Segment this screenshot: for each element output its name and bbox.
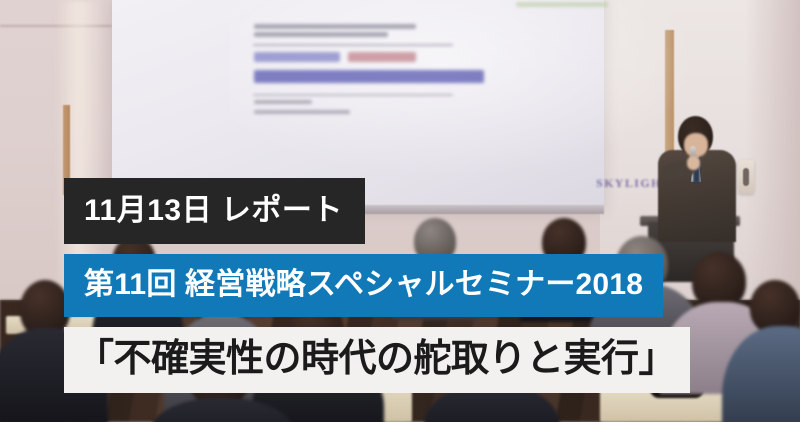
slide-footer-line-2 bbox=[254, 110, 350, 114]
slide-session-accent bbox=[348, 52, 416, 62]
slide-corner-tag bbox=[516, 2, 608, 7]
overlay-banners: 11月13日 レポート 第11回 経営戦略スペシャルセミナー2018 「不確実性… bbox=[64, 178, 754, 393]
slide-rule-bottom bbox=[253, 94, 453, 96]
projection-screen: SKYLIGHT bbox=[112, 0, 604, 208]
slide-session-label bbox=[254, 52, 340, 62]
speaker-hand bbox=[687, 156, 700, 170]
slide-heading-line-2 bbox=[254, 32, 388, 37]
slide-footer-line-1 bbox=[254, 100, 312, 104]
seminar-title-band: 第11回 経営戦略スペシャルセミナー2018 bbox=[64, 254, 663, 317]
banner-image: SKYLIGHT bbox=[0, 0, 800, 422]
theme-band-row: 「不確実性の時代の舵取りと実行」 bbox=[64, 317, 754, 393]
slide-heading-line-1 bbox=[254, 24, 416, 29]
slide-title-line bbox=[254, 70, 484, 83]
slide-rule-top bbox=[253, 44, 453, 46]
seminar-theme-band: 「不確実性の時代の舵取りと実行」 bbox=[64, 327, 690, 393]
title-band-row: 第11回 経営戦略スペシャルセミナー2018 bbox=[64, 244, 754, 317]
date-band: 11月13日 レポート bbox=[64, 178, 365, 244]
date-band-row: 11月13日 レポート bbox=[64, 178, 754, 244]
speaker-face bbox=[684, 133, 708, 157]
